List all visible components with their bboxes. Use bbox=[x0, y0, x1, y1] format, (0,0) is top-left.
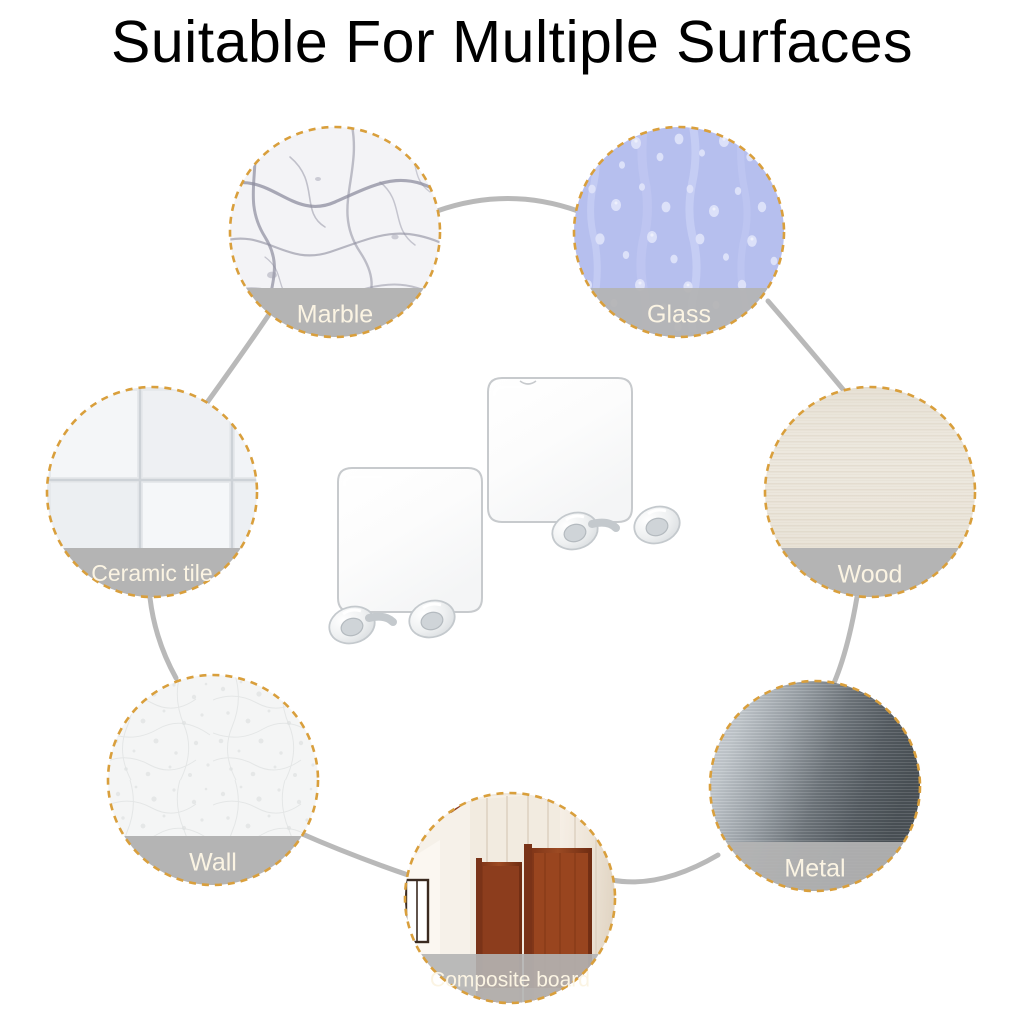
connector-metal-composite bbox=[612, 855, 718, 882]
surface-circle-composite-board[interactable]: Composite board bbox=[405, 793, 615, 1014]
product-adhesive-hooks bbox=[325, 378, 684, 649]
surface-circle-marble[interactable]: Marble bbox=[230, 127, 440, 348]
surface-circle-ceramic-tile[interactable]: Ceramic tile bbox=[47, 387, 257, 608]
surface-circle-glass[interactable]: Glass bbox=[574, 127, 784, 348]
surface-circle-wall[interactable]: Wall bbox=[108, 675, 318, 896]
connector-composite-wall bbox=[300, 833, 408, 875]
surface-circle-wood[interactable]: Wood bbox=[765, 387, 975, 608]
connector-wood-metal bbox=[834, 597, 857, 683]
surfaces-diagram: Marble Glass Ceramic tile bbox=[0, 0, 1024, 1024]
infographic-page: Suitable For Multiple Surfaces bbox=[0, 0, 1024, 1024]
hook-plate-back bbox=[488, 378, 684, 555]
surface-label-marble: Marble bbox=[297, 301, 373, 329]
connector-marble-glass bbox=[437, 199, 578, 212]
hook-plate-front bbox=[325, 468, 482, 649]
surface-label-glass: Glass bbox=[647, 301, 711, 329]
surface-label-composite-board: Composite board bbox=[430, 969, 590, 992]
connector-wall-ceramic bbox=[150, 598, 176, 678]
surface-label-metal: Metal bbox=[784, 855, 845, 883]
surface-label-wood: Wood bbox=[838, 561, 903, 589]
connector-glass-wood bbox=[768, 301, 846, 393]
connector-ceramic-marble bbox=[206, 313, 270, 404]
hook-nub bbox=[630, 501, 684, 548]
surface-circle-metal[interactable]: Metal bbox=[710, 681, 920, 902]
surface-label-ceramic-tile: Ceramic tile bbox=[91, 560, 212, 586]
surface-label-wall: Wall bbox=[189, 849, 237, 877]
